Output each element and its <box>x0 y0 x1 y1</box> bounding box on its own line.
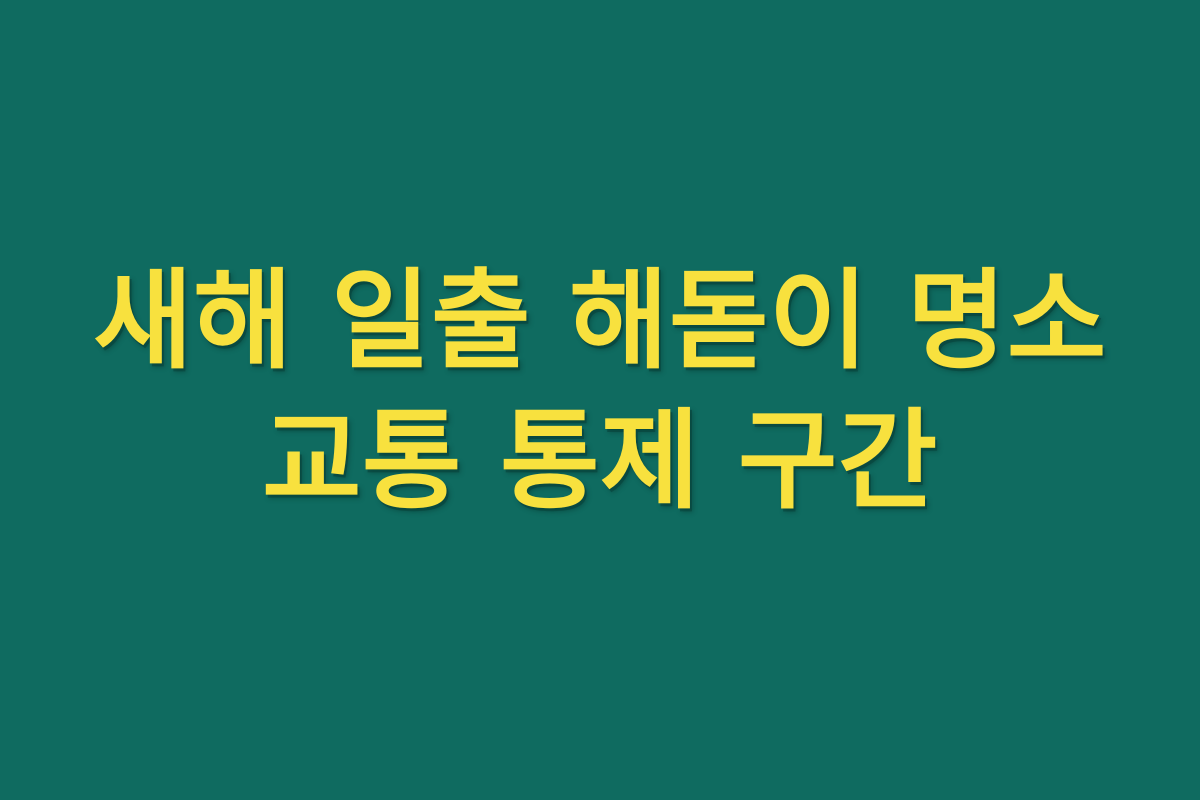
headline-block: 새해 일출 해돋이 명소 교통 통제 구간 <box>0 261 1200 523</box>
banner-card: 새해 일출 해돋이 명소 교통 통제 구간 <box>0 0 1200 800</box>
headline-line-1: 새해 일출 해돋이 명소 <box>40 261 1160 383</box>
headline-line-2: 교통 통제 구간 <box>40 401 1160 523</box>
